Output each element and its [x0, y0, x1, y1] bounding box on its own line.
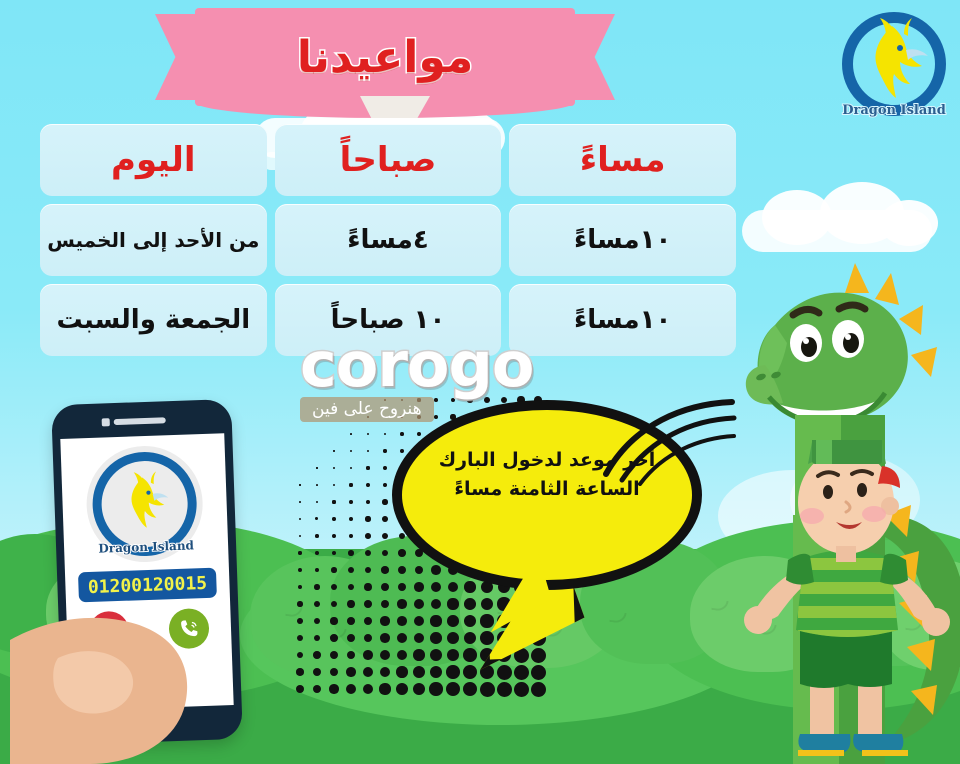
table-header-morning: صباحاً [275, 124, 502, 196]
speech-line-1: أخر موعد لدخول البارك [412, 446, 682, 475]
watermark-name: corogo [300, 336, 534, 395]
cell-morning-row1: ٤مساءً [275, 204, 502, 276]
watermark: corogo هنروح على فين [300, 336, 534, 422]
table-header-row: مساءً صباحاً اليوم [40, 124, 736, 196]
brand-logo-text: Dragon Island [834, 103, 954, 118]
boy-character [742, 440, 952, 764]
cell-day-row1: من الأحد إلى الخميس [40, 204, 267, 276]
poster-canvas: مواعيدنا Dragon Island مساءً صباحاً اليو… [0, 0, 960, 764]
hand-holding-phone [10, 520, 290, 764]
table-row: ١٠مساءً ٤مساءً من الأحد إلى الخميس [40, 204, 736, 276]
cell-evening-row2: ١٠مساءً [509, 284, 736, 356]
phone-speaker-icon [114, 417, 166, 425]
table-header-evening: مساءً [509, 124, 736, 196]
speech-bubble-text: أخر موعد لدخول البارك الساعة الثامنة مسا… [412, 446, 682, 503]
brand-logo[interactable]: Dragon Island [834, 4, 954, 124]
cell-day-row2: الجمعة والسبت [40, 284, 267, 356]
cell-evening-row1: ١٠مساءً [509, 204, 736, 276]
speech-line-2: الساعة الثامنة مساءً [412, 475, 682, 504]
table-header-day: اليوم [40, 124, 267, 196]
phone-camera-icon [102, 418, 110, 426]
watermark-tagline: هنروح على فين [300, 397, 434, 422]
